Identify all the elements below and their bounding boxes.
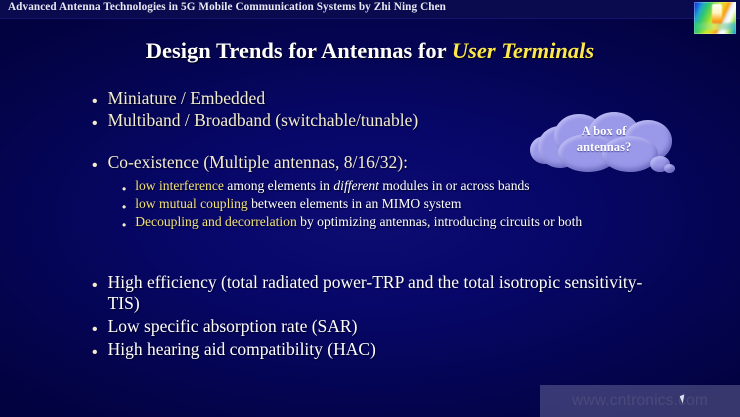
presentation-slide: Advanced Antenna Technologies in 5G Mobi…	[0, 0, 740, 417]
slide-title-main: Design Trends for Antennas for	[146, 38, 452, 63]
bullet-item-hac: • High hearing aid compatibility (HAC)	[92, 339, 652, 361]
cloud-callout-shape: A box of antennas?	[528, 112, 680, 174]
watermark-text: www.cntronics.com	[540, 385, 740, 417]
sub-bullet-text-decoupling: Decoupling and decorrelation by optimizi…	[135, 214, 722, 231]
bullet-marker-icon: •	[92, 94, 98, 110]
heatmap-band	[694, 23, 736, 29]
sub1-part-a: among elements in	[224, 178, 333, 193]
bullet-text-hac: High hearing aid compatibility (HAC)	[108, 339, 652, 360]
bullet-item-sar: • Low specific absorption rate (SAR)	[92, 316, 652, 338]
cloud-tail-puff	[664, 164, 675, 173]
sub1-part-b: modules in or across bands	[379, 178, 530, 193]
bullet-marker-icon: •	[92, 158, 98, 174]
sub-bullet-item-low-interference: • low interference among elements in dif…	[122, 178, 722, 195]
cloud-text-line-1: A box of	[528, 124, 680, 140]
sub-bullet-marker-icon: •	[122, 219, 126, 231]
slide-header-bar: Advanced Antenna Technologies in 5G Mobi…	[0, 0, 740, 19]
sub-bullet-marker-icon: •	[122, 201, 126, 213]
sub1-highlight: low interference	[135, 178, 224, 193]
bullet-marker-icon: •	[92, 345, 98, 361]
slide-title: Design Trends for Antennas for User Term…	[0, 38, 740, 64]
sub-bullet-item-decoupling: • Decoupling and decorrelation by optimi…	[122, 214, 722, 231]
presentation-header-title: Advanced Antenna Technologies in 5G Mobi…	[8, 1, 446, 13]
slide-title-accent: User Terminals	[452, 38, 594, 63]
bullet-marker-icon: •	[92, 322, 98, 338]
heatmap-core	[712, 4, 721, 24]
bullet-marker-icon: •	[92, 116, 98, 132]
bullet-text-high-efficiency: High efficiency (total radiated power-TR…	[108, 272, 657, 315]
sub3-part-a: by optimizing antennas, introducing circ…	[297, 214, 582, 229]
cloud-text-line-2: antennas?	[528, 140, 680, 156]
sub-bullet-marker-icon: •	[122, 183, 126, 195]
sub-bullet-text-low-mutual-coupling: low mutual coupling between elements in …	[135, 196, 722, 213]
bullet-item-high-efficiency: • High efficiency (total radiated power-…	[92, 272, 657, 315]
bullet-marker-icon: •	[92, 278, 98, 294]
bullet-text-sar: Low specific absorption rate (SAR)	[108, 316, 652, 337]
sub-bullet-item-low-mutual-coupling: • low mutual coupling between elements i…	[122, 196, 722, 213]
bullet-text-miniature: Miniature / Embedded	[108, 88, 652, 109]
sub3-highlight: Decoupling and decorrelation	[135, 214, 297, 229]
sub1-emphasis: different	[333, 178, 379, 193]
em-field-heatmap-icon	[694, 2, 736, 34]
sub-bullet-text-low-interference: low interference among elements in diffe…	[135, 178, 722, 195]
sub2-part-a: between elements in an MIMO system	[248, 196, 462, 211]
bullet-item-miniature: • Miniature / Embedded	[92, 88, 652, 110]
watermark-overlay: www.cntronics.com	[540, 385, 740, 417]
sub2-highlight: low mutual coupling	[135, 196, 248, 211]
cloud-callout-text: A box of antennas?	[528, 124, 680, 155]
